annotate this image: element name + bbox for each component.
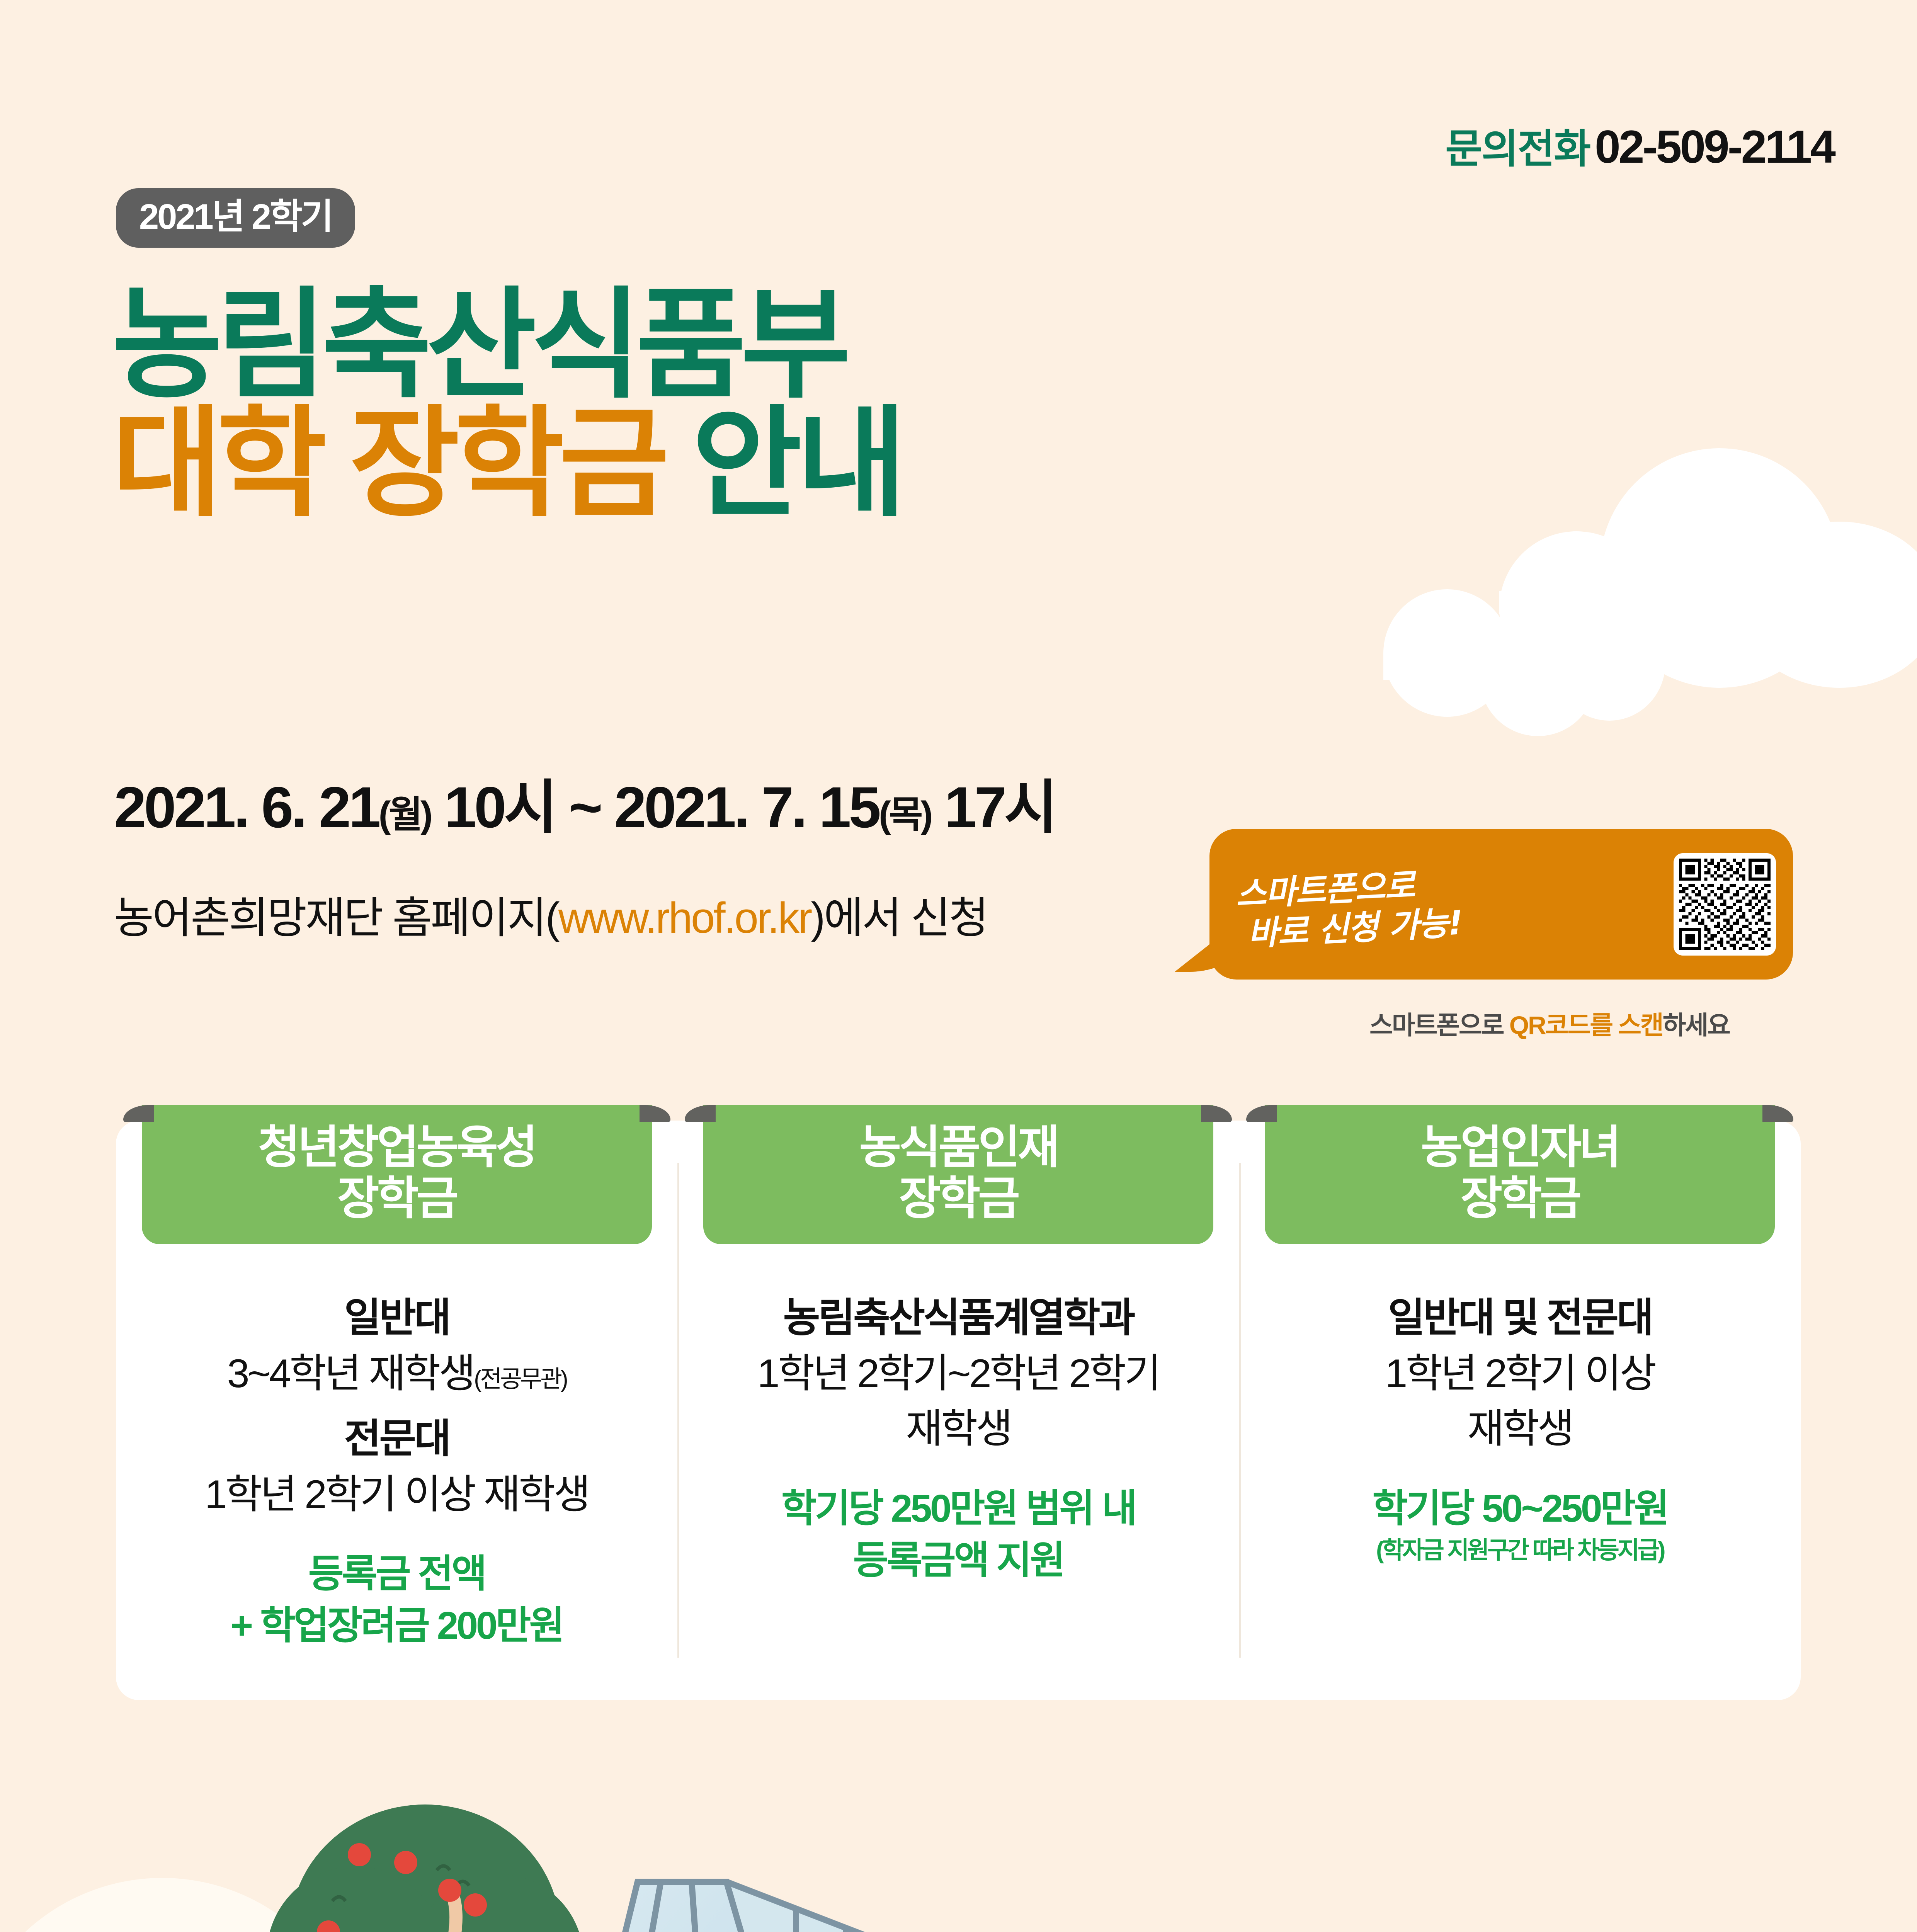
card-amount: 학기당 250만원 범위 내 등록금액 지원	[781, 1483, 1135, 1586]
site-prefix: 농어촌희망재단 홈페이지(	[114, 894, 558, 942]
title-line-1: 농림축산식품부	[112, 286, 902, 405]
amount-line-1: 등록금 전액	[308, 1552, 485, 1595]
amount-line-2: 등록금액 지원	[853, 1539, 1064, 1582]
eligibility-line: 재학생	[757, 1401, 1159, 1457]
pin-right-icon	[640, 1105, 670, 1122]
scholarship-card-agrifood-talent: 농식품인재 장학금 농림축산식품계열학과 1학년 2학기~2학년 2학기 재학생…	[677, 1121, 1239, 1700]
card-amount: 학기당 50~250만원 (학자금 지원구간 따라 차등지급)	[1372, 1483, 1667, 1566]
period-start-day: (월)	[379, 794, 430, 835]
qr-caption-prefix: 스마트폰으로	[1369, 1011, 1509, 1039]
qr-bubble-text: 스마트폰으로 바로 신청 가능!	[1208, 852, 1675, 956]
title-guide-text	[664, 396, 692, 531]
eligibility-line: 1학년 2학기 이상 재학생	[205, 1467, 589, 1523]
site-suffix: )에서 신청	[811, 894, 987, 942]
title-scholarship-text: 대학 장학금	[112, 396, 664, 531]
qr-caption-highlight: QR코드를 스캔	[1509, 1011, 1663, 1039]
card-amount: 등록금 전액 + 학업장려금 200만원	[231, 1548, 563, 1651]
pin-left-icon	[123, 1105, 154, 1122]
qr-speech-bubble: 스마트폰으로 바로 신청 가능!	[1209, 829, 1793, 980]
eligibility-line: 일반대	[205, 1291, 589, 1346]
eligibility-line: 전문대	[205, 1412, 589, 1467]
period-start-time: 10시 ~	[444, 775, 614, 840]
card-title-line-2: 장학금	[1265, 1173, 1775, 1224]
period-end-day: (목)	[879, 794, 930, 835]
amount-note: (학자금 지원구간 따라 차등지급)	[1372, 1534, 1667, 1566]
poster-root: 문의전화02-509-2114 2021년 2학기 농림축산식품부 대학 장학금…	[0, 0, 1917, 1932]
cloud-small-icon	[1383, 589, 1662, 678]
qr-caption-suffix: 하세요	[1663, 1011, 1730, 1039]
scholarship-panel: 청년창업농육성 장학금 일반대 3~4학년 재학생(전공무관) 전문대 1학년 …	[116, 1121, 1801, 1700]
eligibility-main: 3~4학년 재학생	[227, 1351, 474, 1396]
card-eligibility: 일반대 및 전문대 1학년 2학기 이상 재학생	[1385, 1291, 1655, 1457]
page-title: 농림축산식품부 대학 장학금 안내	[112, 286, 902, 523]
farm-illustration	[0, 1700, 1917, 1932]
cloud-large-icon	[1499, 448, 1917, 611]
card-eligibility: 일반대 3~4학년 재학생(전공무관) 전문대 1학년 2학기 이상 재학생	[205, 1291, 589, 1522]
amount-line-1: 학기당 50~250만원	[1372, 1487, 1667, 1530]
application-site: 농어촌희망재단 홈페이지(www.rhof.or.kr)에서 신청	[114, 883, 987, 946]
card-title-line-1: 농업인자녀	[1265, 1122, 1775, 1173]
title-line-2: 대학 장학금 안내	[112, 405, 902, 523]
title-guide-word: 안내	[692, 396, 901, 531]
eligibility-note: (전공무관)	[474, 1366, 566, 1393]
card-title-line-2: 장학금	[142, 1173, 652, 1224]
contact-label: 문의전화	[1445, 127, 1590, 172]
period-end-date: 2021. 7. 15	[614, 775, 879, 840]
scholarship-card-farmer-children: 농업인자녀 장학금 일반대 및 전문대 1학년 2학기 이상 재학생 학기당 5…	[1239, 1121, 1801, 1700]
eligibility-line: 3~4학년 재학생(전공무관)	[205, 1346, 589, 1402]
scholarship-card-youth-startup: 청년창업농육성 장학금 일반대 3~4학년 재학생(전공무관) 전문대 1학년 …	[116, 1121, 677, 1700]
period-start-date: 2021. 6. 21	[114, 775, 379, 840]
card-header: 농업인자녀 장학금	[1265, 1105, 1775, 1244]
eligibility-line: 1학년 2학기 이상	[1385, 1346, 1655, 1402]
period-end-time: 17시	[944, 775, 1055, 840]
qr-caption: 스마트폰으로 QR코드를 스캔하세요	[1298, 1005, 1801, 1042]
card-title-line-2: 장학금	[703, 1173, 1213, 1224]
contact-number: 02-509-2114	[1595, 121, 1834, 173]
application-period: 2021. 6. 21(월) 10시 ~ 2021. 7. 15(목) 17시	[114, 760, 1055, 844]
eligibility-line: 일반대 및 전문대	[1385, 1291, 1655, 1346]
card-title-line-1: 청년창업농육성	[142, 1122, 652, 1173]
pin-right-icon	[1201, 1105, 1232, 1122]
card-eligibility: 농림축산식품계열학과 1학년 2학기~2학년 2학기 재학생	[757, 1291, 1159, 1457]
contact-phone: 문의전화02-509-2114	[1445, 116, 1834, 174]
qr-code-image[interactable]	[1674, 853, 1776, 956]
card-header: 농식품인재 장학금	[703, 1105, 1213, 1244]
card-header: 청년창업농육성 장학금	[142, 1105, 652, 1244]
eligibility-line: 재학생	[1385, 1401, 1655, 1457]
amount-line-1: 학기당 250만원 범위 내	[781, 1487, 1135, 1530]
semester-badge: 2021년 2학기	[116, 188, 355, 248]
pin-left-icon	[1246, 1105, 1277, 1122]
eligibility-line: 1학년 2학기~2학년 2학기	[757, 1346, 1159, 1402]
amount-line-2: + 학업장려금 200만원	[231, 1604, 563, 1647]
eligibility-line: 농림축산식품계열학과	[757, 1291, 1159, 1346]
site-url-link[interactable]: www.rhof.or.kr	[558, 894, 811, 942]
card-title-line-1: 농식품인재	[703, 1122, 1213, 1173]
pin-left-icon	[685, 1105, 716, 1122]
pin-right-icon	[1762, 1105, 1793, 1122]
